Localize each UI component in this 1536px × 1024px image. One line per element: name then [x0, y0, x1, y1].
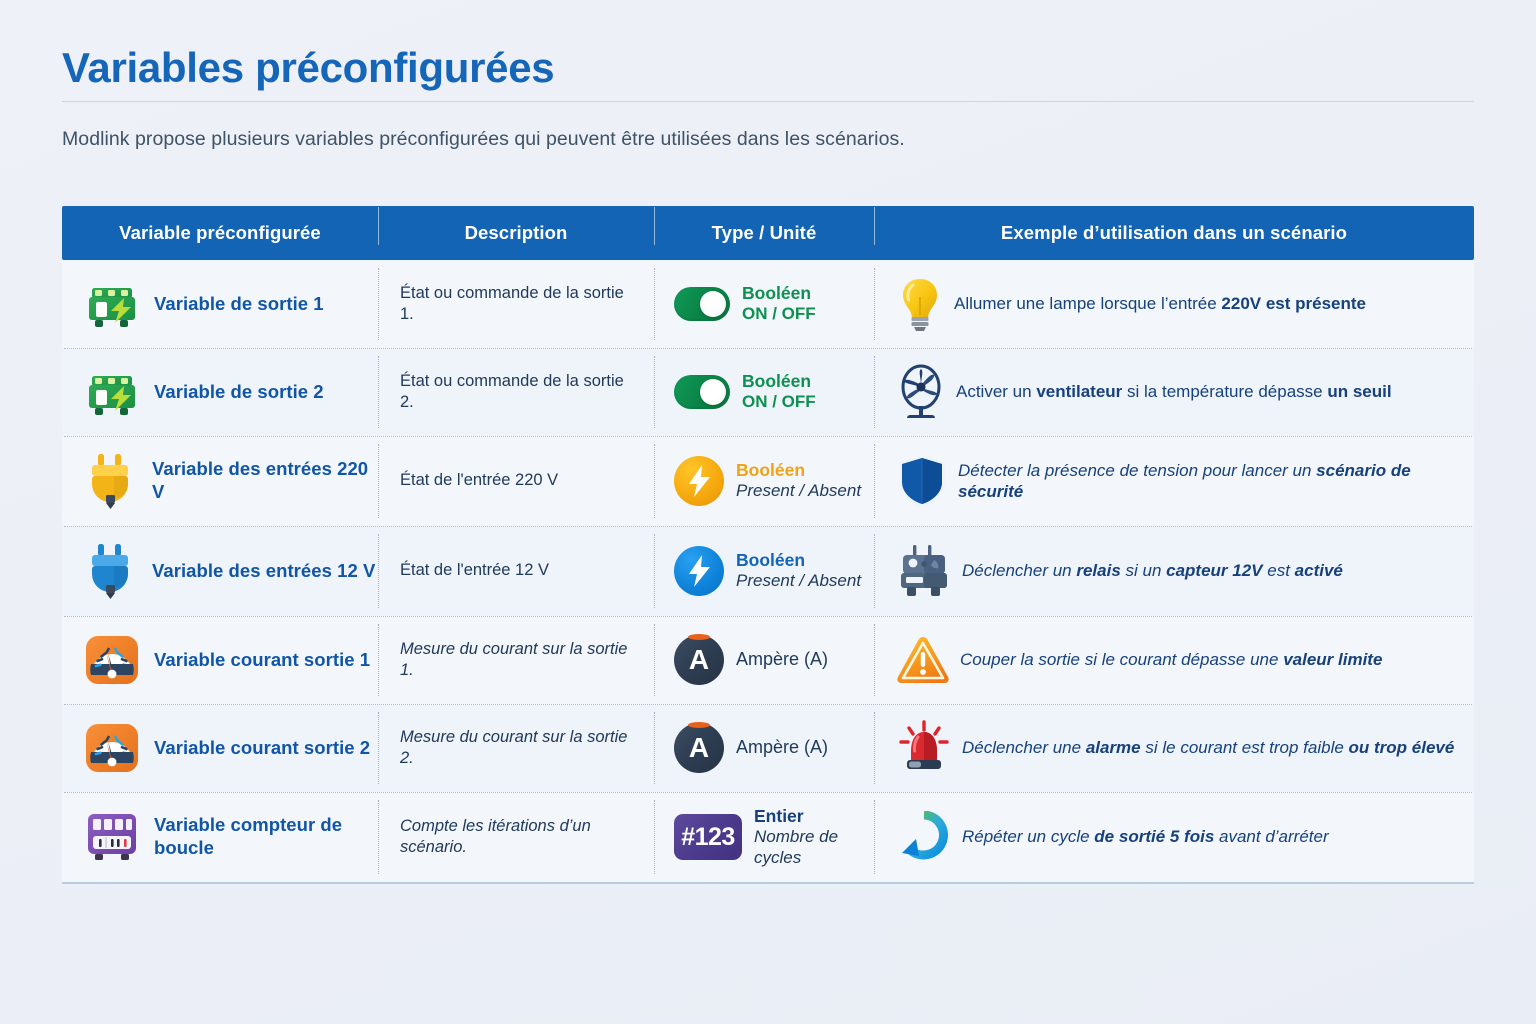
example-cell: Allumer une lampe lorsque l’entrée 220V …: [874, 260, 1474, 348]
warning-triangle-icon: [896, 635, 950, 685]
type-label: Booléen: [742, 371, 811, 391]
table-row: Variable courant sortie 1 Mesure du cour…: [62, 616, 1474, 704]
gauge-icon: [84, 633, 140, 687]
shield-icon: [896, 453, 948, 509]
type-unit-cell: #123 Entier Nombre de cycles: [654, 792, 874, 882]
type-text: Booléen ON / OFF: [742, 371, 816, 413]
type-unit-cell: A Ampère (A): [654, 616, 874, 704]
ampere-letter: A: [689, 646, 709, 674]
variable-name: Variable compteur de boucle: [154, 814, 378, 859]
type-label: Booléen: [736, 460, 805, 480]
column-header-variable: Variable préconfigurée: [62, 222, 378, 244]
example-cell: Couper la sortie si le courant dépasse u…: [874, 616, 1474, 704]
column-header-example: Exemple d’utilisation dans un scénario: [874, 222, 1474, 244]
variable-cell: Variable courant sortie 2: [62, 704, 378, 792]
table-row: Variable de sortie 2 État ou commande de…: [62, 348, 1474, 436]
variable-cell: Variable courant sortie 1: [62, 616, 378, 704]
table-row: Variable des entrées 12 V État de l'entr…: [62, 526, 1474, 616]
type-text: Booléen Present / Absent: [736, 460, 861, 502]
type-label: Ampère (A): [736, 737, 828, 757]
example-text: Couper la sortie si le courant dépasse u…: [960, 649, 1382, 670]
type-label: Booléen: [742, 283, 811, 303]
type-text: Booléen ON / OFF: [742, 283, 816, 325]
description-cell: Mesure du courant sur la sortie 2.: [378, 704, 654, 792]
variable-cell: Variable de sortie 1: [62, 260, 378, 348]
table-body: Variable de sortie 1 État ou commande de…: [62, 260, 1474, 882]
loop-arrow-icon: [896, 811, 952, 863]
purple-counter-icon: [84, 811, 140, 863]
description-cell: État ou commande de la sortie 1.: [378, 260, 654, 348]
gauge-icon: [84, 721, 140, 775]
unit-label: Present / Absent: [736, 571, 861, 590]
variable-name: Variable courant sortie 2: [154, 737, 370, 760]
title-divider: [62, 101, 1474, 102]
table-row: Variable compteur de boucle Compte les i…: [62, 792, 1474, 882]
example-cell: Déclencher une alarme si le courant est …: [874, 704, 1474, 792]
description-cell: État de l'entrée 220 V: [378, 436, 654, 526]
toggle-knob: [700, 379, 726, 405]
type-label: Entier: [754, 806, 804, 826]
blue-plug-icon: [84, 542, 138, 600]
page-subtitle: Modlink propose plusieurs variables préc…: [62, 128, 1474, 151]
type-unit-cell: Booléen Present / Absent: [654, 526, 874, 616]
example-cell: Déclencher un relais si un capteur 12V e…: [874, 526, 1474, 616]
type-unit-cell: Booléen ON / OFF: [654, 260, 874, 348]
variable-cell: Variable compteur de boucle: [62, 792, 378, 882]
description-cell: État ou commande de la sortie 2.: [378, 348, 654, 436]
example-text: Répéter un cycle de sortié 5 fois avant …: [962, 826, 1329, 847]
example-text: Activer un ventilateur si la température…: [956, 381, 1392, 402]
ampere-badge-icon: A: [674, 723, 724, 773]
type-label: Ampère (A): [736, 649, 828, 669]
example-cell: Activer un ventilateur si la température…: [874, 348, 1474, 436]
type-text: Entier Nombre de cycles: [754, 806, 874, 868]
page-header: Variables préconfigurées Modlink propose…: [62, 44, 1474, 151]
variable-name: Variable des entrées 12 V: [152, 560, 375, 583]
type-text: Booléen Present / Absent: [736, 550, 861, 592]
description-cell: Compte les itérations d’un scénario.: [378, 792, 654, 882]
type-unit-cell: A Ampère (A): [654, 704, 874, 792]
example-text: Détecter la présence de tension pour lan…: [958, 460, 1462, 503]
example-text: Déclencher une alarme si le courant est …: [962, 737, 1454, 758]
table-row: Variable courant sortie 2 Mesure du cour…: [62, 704, 1474, 792]
type-unit-cell: Booléen ON / OFF: [654, 348, 874, 436]
description-cell: Mesure du courant sur la sortie 1.: [378, 616, 654, 704]
toggle-knob: [700, 291, 726, 317]
variable-cell: Variable des entrées 220 V: [62, 436, 378, 526]
table-row: Variable des entrées 220 V État de l'ent…: [62, 436, 1474, 526]
column-header-type-unit: Type / Unité: [654, 222, 874, 244]
type-unit-cell: Booléen Present / Absent: [654, 436, 874, 526]
yellow-bolt-icon: [674, 456, 724, 506]
yellow-plug-icon: [84, 452, 138, 510]
table-header-row: Variable préconfigurée Description Type …: [62, 206, 1474, 260]
example-cell: Détecter la présence de tension pour lan…: [874, 436, 1474, 526]
variable-name: Variable courant sortie 1: [154, 649, 370, 672]
example-cell: Répéter un cycle de sortié 5 fois avant …: [874, 792, 1474, 882]
ampere-letter: A: [689, 734, 709, 762]
variables-table: Variable préconfigurée Description Type …: [62, 206, 1474, 884]
example-text: Allumer une lampe lorsque l’entrée 220V …: [954, 293, 1366, 314]
variable-name: Variable des entrées 220 V: [152, 458, 378, 503]
toggle-switch-on-icon[interactable]: [674, 287, 730, 321]
blue-bolt-icon: [674, 546, 724, 596]
description-cell: État de l'entrée 12 V: [378, 526, 654, 616]
green-output-module-icon: [84, 364, 140, 420]
column-header-description: Description: [378, 222, 654, 244]
variable-cell: Variable de sortie 2: [62, 348, 378, 436]
toggle-switch-on-icon[interactable]: [674, 375, 730, 409]
lightbulb-icon: [896, 277, 944, 331]
type-label: Booléen: [736, 550, 805, 570]
alarm-siren-icon: [896, 720, 952, 776]
page-title: Variables préconfigurées: [62, 44, 1474, 92]
type-text: Ampère (A): [736, 737, 828, 759]
example-text: Déclencher un relais si un capteur 12V e…: [962, 560, 1343, 581]
unit-label: Present / Absent: [736, 481, 861, 500]
unit-label: ON / OFF: [742, 392, 816, 411]
fan-icon: [896, 364, 946, 420]
variable-name: Variable de sortie 1: [154, 293, 324, 316]
table-row: Variable de sortie 1 État ou commande de…: [62, 260, 1474, 348]
type-text: Ampère (A): [736, 649, 828, 671]
table-bottom-divider: [62, 882, 1474, 884]
relay-module-icon: [896, 544, 952, 598]
unit-label: Nombre de cycles: [754, 827, 838, 866]
green-output-module-icon: [84, 276, 140, 332]
variable-name: Variable de sortie 2: [154, 381, 324, 404]
unit-label: ON / OFF: [742, 304, 816, 323]
ampere-badge-icon: A: [674, 635, 724, 685]
infographic-page: Variables préconfigurées Modlink propose…: [0, 0, 1536, 1024]
hash-123-badge: #123: [674, 814, 742, 860]
variable-cell: Variable des entrées 12 V: [62, 526, 378, 616]
